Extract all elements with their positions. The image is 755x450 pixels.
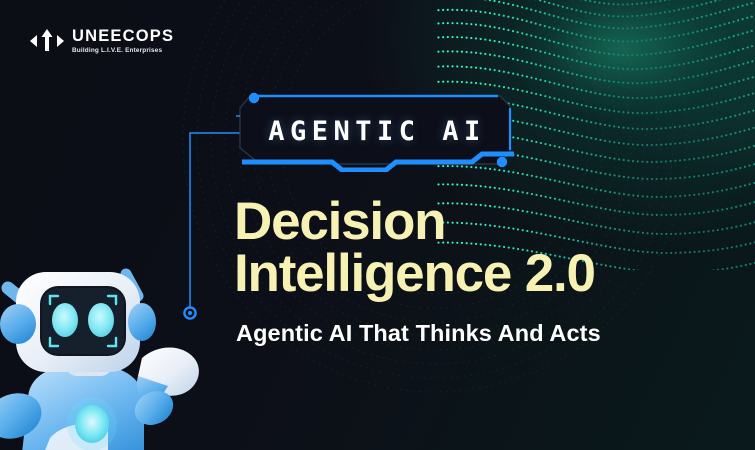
brand-logo[interactable]: UNEECOPS Building L.I.V.E. Enterprises xyxy=(30,28,174,54)
headline-line-2: Intelligence 2.0 xyxy=(234,248,704,300)
logo-tagline: Building L.I.V.E. Enterprises xyxy=(72,48,174,54)
headline-line-1: Decision xyxy=(234,192,445,251)
promo-banner: UNEECOPS Building L.I.V.E. Enterprises xyxy=(0,0,755,450)
arrow-up-between-chevrons-icon xyxy=(30,28,64,54)
badge-label: AGENTIC AI xyxy=(236,92,514,172)
page-title: Decision Intelligence 2.0 xyxy=(234,196,704,300)
robot-mascot xyxy=(0,248,207,450)
logo-name: UNEECOPS xyxy=(72,28,174,45)
agentic-ai-badge: AGENTIC AI xyxy=(236,92,514,172)
page-subtitle: Agentic AI That Thinks And Acts xyxy=(236,320,706,347)
